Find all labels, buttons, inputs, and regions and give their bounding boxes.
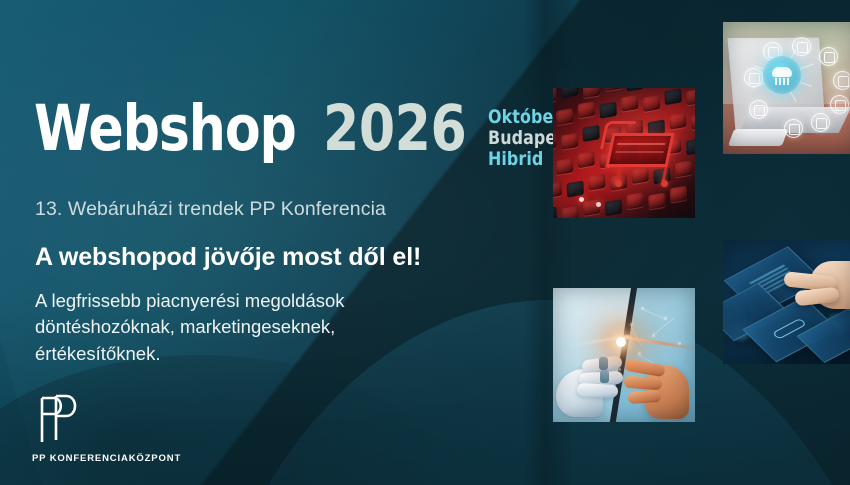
title-block: Webshop 2026 Október 2. Budapest Hibrid: [34, 99, 592, 170]
event-mode: Hibrid: [488, 148, 543, 170]
tile-automatizalas: AUTOMATIZÁLÁS: [723, 240, 850, 364]
tile-piacnyeres: PIACNYERÉS: [553, 88, 695, 218]
tile-mi-technologia: MI-TECHNOLÓGIA: [553, 288, 695, 422]
tile-multichannel: MULTICHANNEL: [723, 22, 850, 154]
pp-monogram-icon: [32, 392, 88, 446]
event-lead-text: A legfrissebb piacnyerési megoldások dön…: [35, 288, 465, 367]
brand-title: Webshop: [34, 99, 296, 159]
organizer-name: PP KONFERENCIAKÖZPONT: [32, 453, 181, 464]
tile-photo-automatizalas: [723, 240, 850, 364]
event-headline: A webshopod jövője most dől el!: [35, 243, 421, 272]
tile-photo-piacnyeres: [553, 88, 695, 218]
organizer-logo: PP KONFERENCIAKÖZPONT: [32, 392, 181, 464]
year-title: 2026: [323, 99, 466, 159]
text-column: Webshop 2026 Október 2. Budapest Hibrid …: [0, 0, 540, 485]
tile-photo-multichannel: [723, 22, 850, 154]
tile-photo-mi-technologia: [553, 288, 695, 422]
conference-banner: Webshop 2026 Október 2. Budapest Hibrid …: [0, 0, 850, 485]
event-subtitle: 13. Webáruházi trendek PP Konferencia: [35, 198, 386, 221]
